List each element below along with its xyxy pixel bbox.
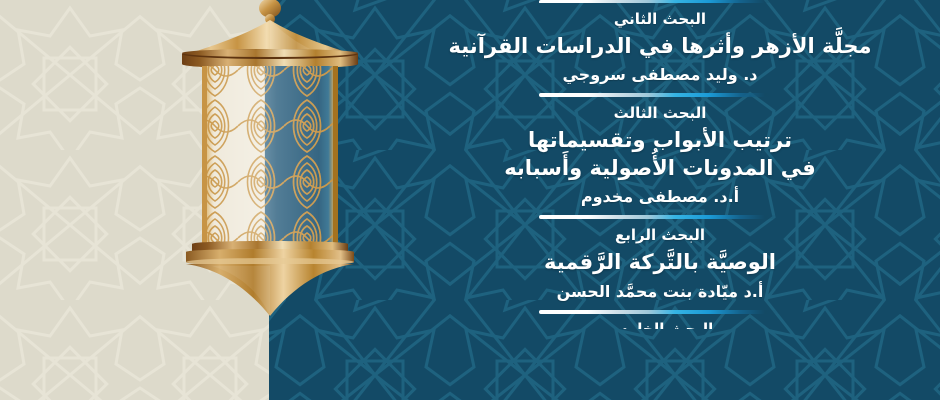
entry-author: أ.د. مصطفى مخدوم	[380, 187, 940, 208]
entry-fifth-research-partial: البحث الخامس	[380, 320, 940, 329]
entry-title: مجلَّة الأزهر وأثرها في الدراسات القرآني…	[380, 33, 940, 61]
entry-title: ترتيب الأبواب وتقسيماتها في المدونات الأ…	[380, 127, 940, 182]
entry-third-research[interactable]: البحث الثالث ترتيب الأبواب وتقسيماتها في…	[380, 104, 940, 208]
poster-canvas: البحث الثاني مجلَّة الأزهر وأثرها في الد…	[0, 0, 940, 400]
contents-list: البحث الثاني مجلَّة الأزهر وأثرها في الد…	[380, 0, 940, 400]
entry-divider	[539, 215, 782, 219]
ramadan-lantern-icon	[146, 0, 394, 316]
entry-author: د. وليد مصطفى سروجي	[380, 65, 940, 86]
entry-title-line: في المدونات الأُصولية وأَسبابه	[380, 155, 940, 183]
entry-title-line: مجلَّة الأزهر وأثرها في الدراسات القرآني…	[380, 33, 940, 61]
entry-kicker: البحث الرابع	[380, 226, 940, 245]
entry-divider	[539, 93, 782, 97]
divider-top-partial	[380, 0, 940, 3]
entry-title-line: الوصيَّة بالتَّركة الرَّقمية	[380, 249, 940, 277]
entry-fourth-research[interactable]: البحث الرابع الوصيَّة بالتَّركة الرَّقمي…	[380, 226, 940, 302]
entry-title-line: ترتيب الأبواب وتقسيماتها	[380, 127, 940, 155]
entry-second-research[interactable]: البحث الثاني مجلَّة الأزهر وأثرها في الد…	[380, 10, 940, 86]
entry-author: أ.د ميّادة بنت محمَّد الحسن	[380, 282, 940, 303]
entry-kicker: البحث الثالث	[380, 104, 940, 123]
entry-title: الوصيَّة بالتَّركة الرَّقمية	[380, 249, 940, 277]
entry-kicker: البحث الثاني	[380, 10, 940, 29]
entry-divider	[539, 310, 782, 314]
